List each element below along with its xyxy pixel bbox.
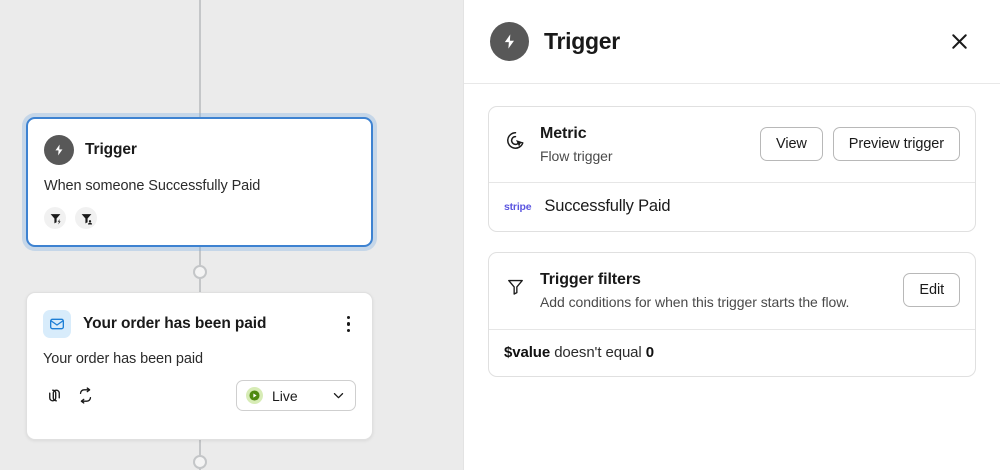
- panel-title: Trigger: [544, 28, 620, 55]
- email-card-title: Your order has been paid: [83, 315, 266, 333]
- trigger-filters-actions: Edit: [903, 273, 960, 307]
- metric-value-row[interactable]: stripe Successfully Paid: [489, 183, 975, 231]
- filter-field: $value: [504, 344, 550, 361]
- chevron-down-icon[interactable]: [331, 388, 346, 403]
- filter-operator: doesn't equal: [554, 344, 641, 361]
- trigger-filters-texts: Trigger filters Add conditions for when …: [540, 269, 889, 312]
- trigger-detail-panel: Trigger: [463, 0, 1000, 470]
- filter-lightning-icon[interactable]: [44, 207, 66, 229]
- filter-condition-row[interactable]: $value doesn't equal 0: [489, 330, 975, 376]
- funnel-filter-icon: [504, 275, 526, 297]
- status-label: Live: [272, 388, 298, 404]
- email-card-header: Your order has been paid: [27, 293, 372, 338]
- filter-condition-expression: $value doesn't equal 0: [504, 344, 654, 361]
- metric-section-row: Metric Flow trigger View Preview trigger: [489, 107, 975, 182]
- trigger-card-footer: [28, 194, 371, 244]
- view-button[interactable]: View: [760, 127, 823, 161]
- flow-builder-screen: Trigger When someone Successfully Paid: [0, 0, 1000, 470]
- trigger-card-title: Trigger: [85, 141, 137, 159]
- trigger-card-description: When someone Successfully Paid: [28, 165, 371, 194]
- metric-name-label: Successfully Paid: [544, 197, 670, 216]
- live-play-icon: [246, 387, 263, 404]
- panel-body: Metric Flow trigger View Preview trigger…: [464, 84, 1000, 377]
- email-card-footer: Live: [27, 367, 372, 426]
- lightning-bolt-icon: [490, 22, 529, 61]
- preview-trigger-button[interactable]: Preview trigger: [833, 127, 960, 161]
- metric-section-texts: Metric Flow trigger: [540, 123, 746, 166]
- connector-node-icon[interactable]: [193, 455, 207, 469]
- link-icon[interactable]: [43, 385, 65, 407]
- trigger-filters-subtitle: Add conditions for when this trigger sta…: [540, 293, 889, 313]
- kebab-menu-icon[interactable]: [341, 312, 357, 337]
- trigger-filters-title: Trigger filters: [540, 269, 889, 291]
- lightning-bolt-icon: [44, 135, 74, 165]
- metric-section-actions: View Preview trigger: [760, 127, 960, 161]
- edit-button[interactable]: Edit: [903, 273, 960, 307]
- repeat-icon[interactable]: [74, 385, 96, 407]
- trigger-filters-section: Trigger filters Add conditions for when …: [488, 252, 976, 376]
- trigger-filters-row: Trigger filters Add conditions for when …: [489, 253, 975, 328]
- metric-section: Metric Flow trigger View Preview trigger…: [488, 106, 976, 232]
- flow-canvas[interactable]: Trigger When someone Successfully Paid: [0, 0, 463, 470]
- stripe-logo-icon: stripe: [504, 201, 531, 213]
- email-node-card[interactable]: Your order has been paid Your order has …: [26, 292, 373, 440]
- metric-section-title: Metric: [540, 123, 746, 145]
- metric-section-subtitle: Flow trigger: [540, 147, 746, 167]
- status-select[interactable]: Live: [236, 380, 356, 411]
- trigger-card-header: Trigger: [28, 119, 371, 165]
- target-cursor-icon: [504, 129, 526, 151]
- close-icon[interactable]: [944, 27, 974, 57]
- email-card-description: Your order has been paid: [27, 338, 372, 367]
- filter-value: 0: [646, 344, 654, 361]
- panel-header: Trigger: [464, 0, 1000, 84]
- trigger-node-card[interactable]: Trigger When someone Successfully Paid: [26, 117, 373, 247]
- envelope-icon: [43, 310, 71, 338]
- connector-node-icon[interactable]: [193, 265, 207, 279]
- profile-filter-icon[interactable]: [75, 207, 97, 229]
